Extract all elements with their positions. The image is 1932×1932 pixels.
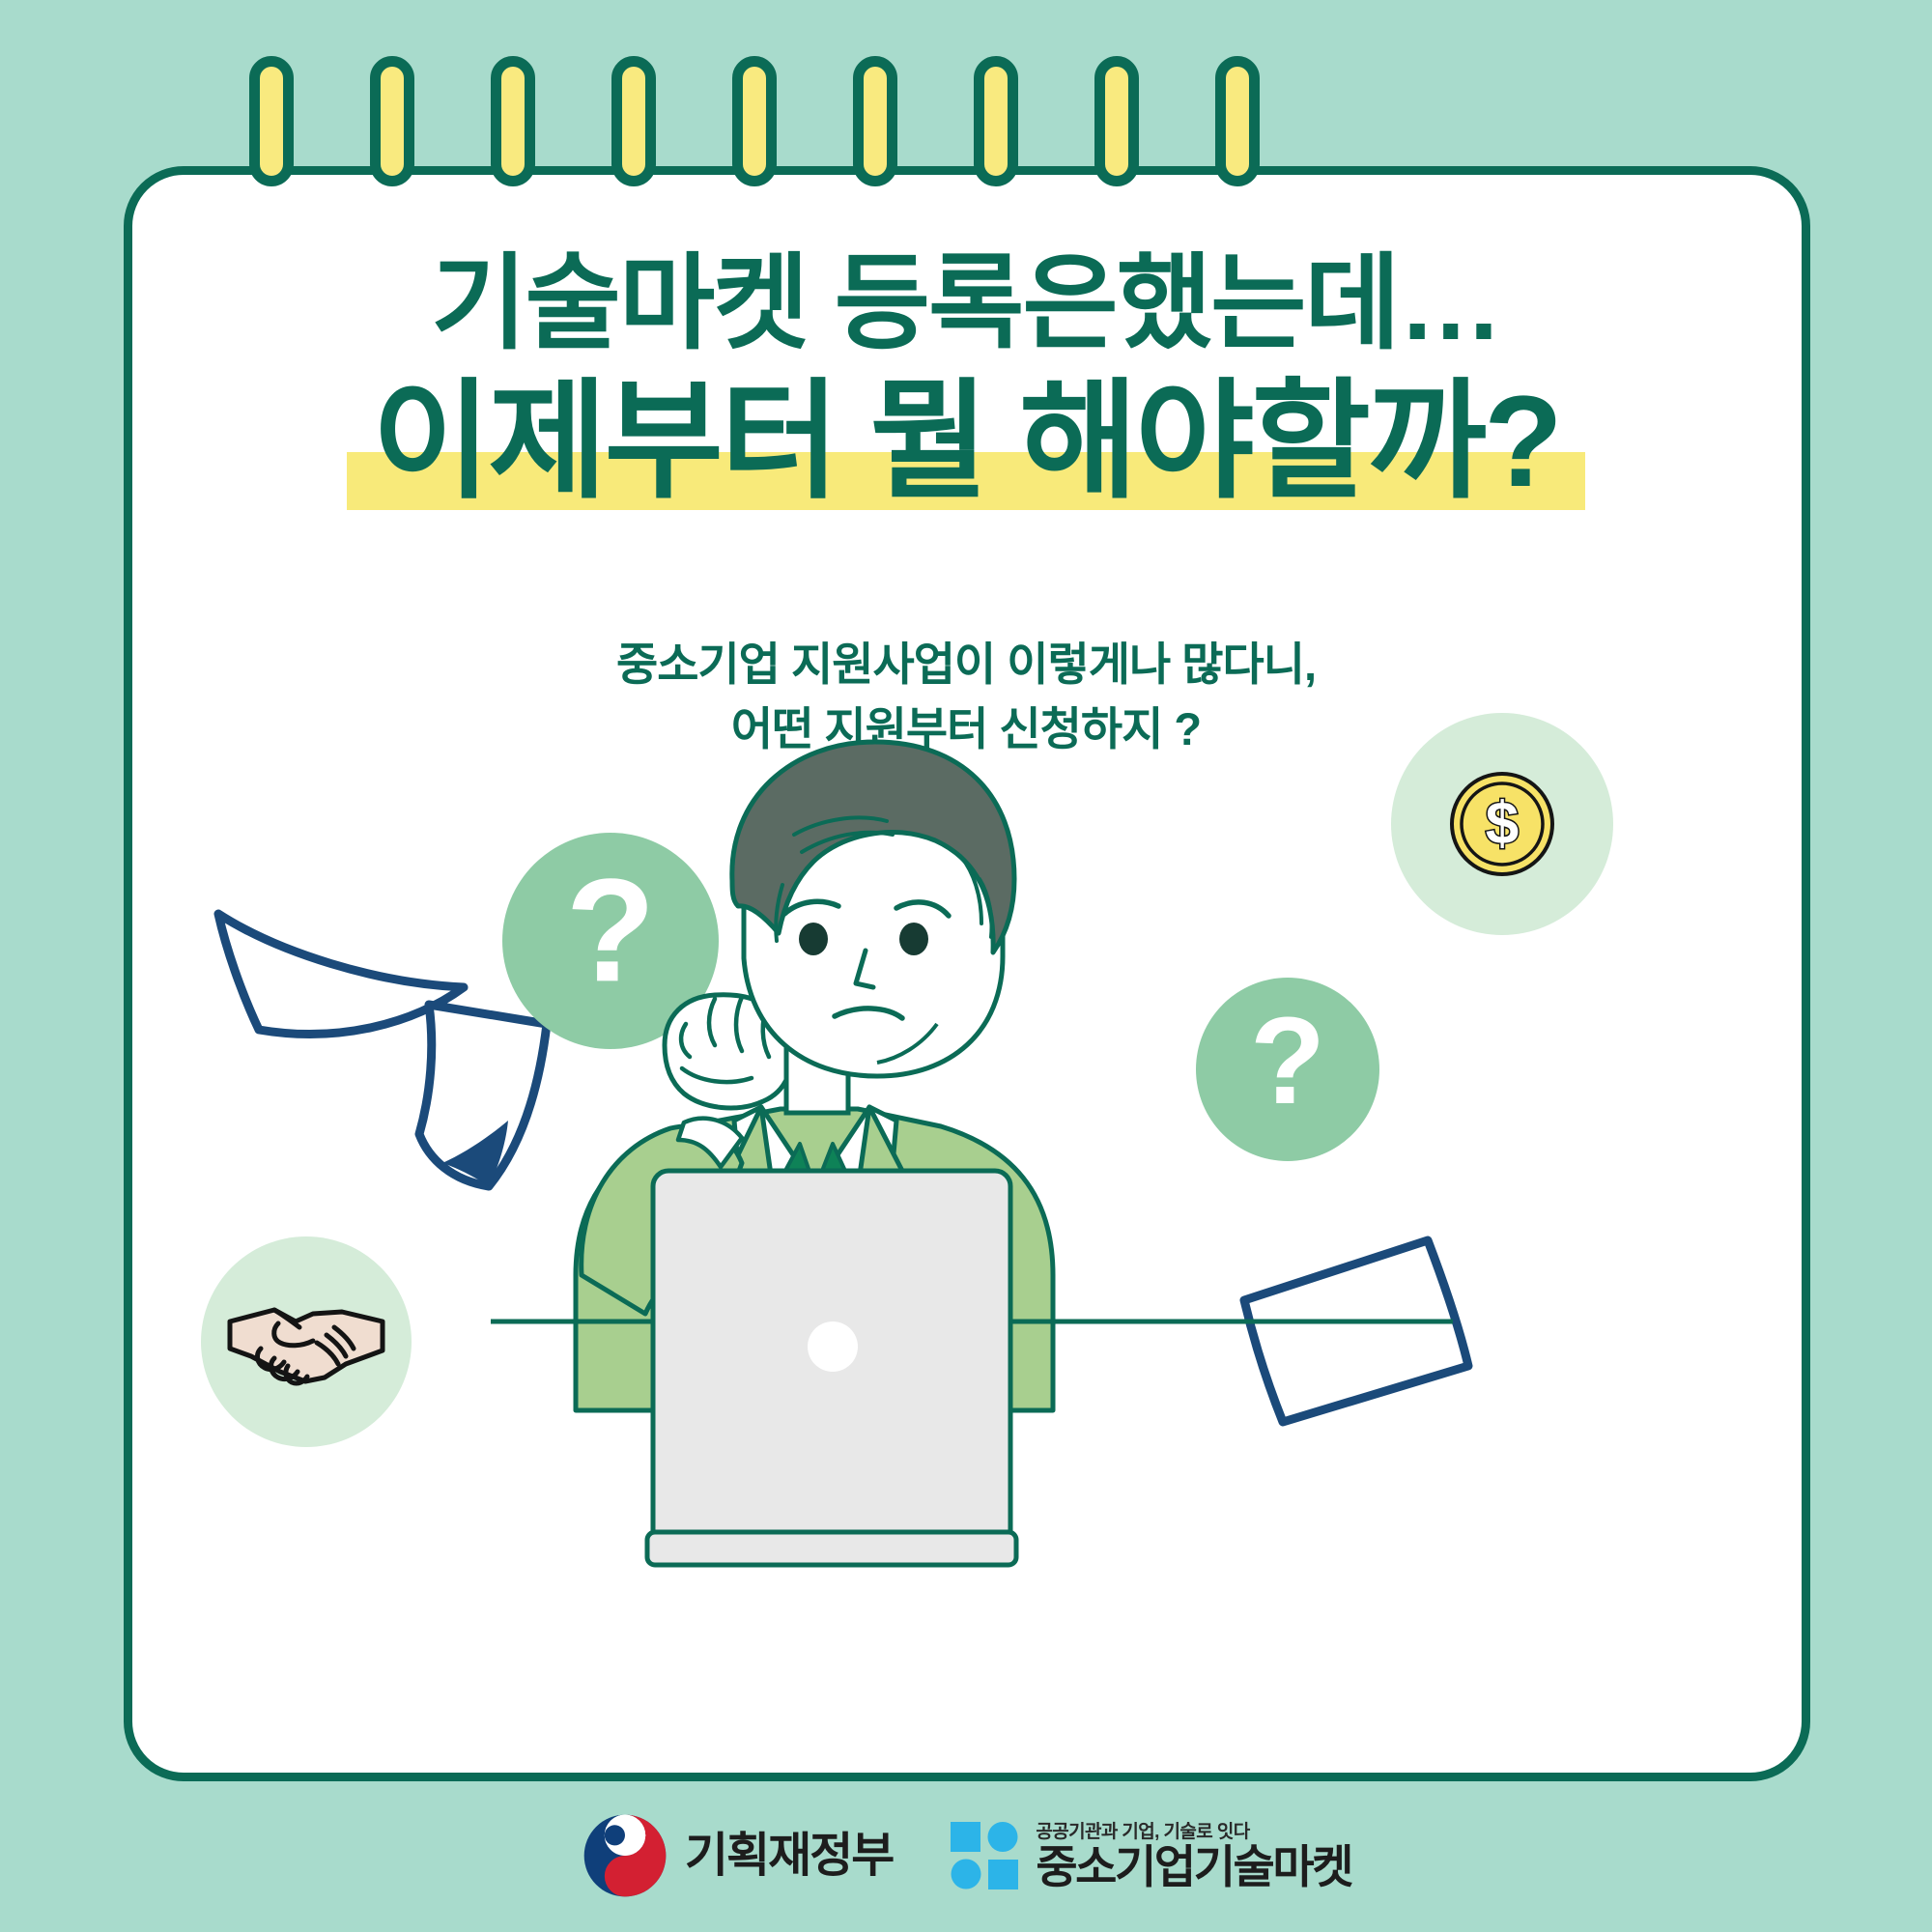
binding-ring: [370, 56, 414, 186]
right-eye: [899, 923, 928, 955]
techmarket-tagline: 공공기관과 기업, 기술로 잇다: [1036, 1823, 1351, 1841]
binding-ring: [1094, 56, 1139, 186]
ministry-name: 기획재정부: [685, 1833, 893, 1880]
binding-ring: [611, 56, 656, 186]
binding-ring: [1215, 56, 1260, 186]
binding-ring: [974, 56, 1018, 186]
spiral-binding: [0, 0, 1932, 251]
techmarket-name: 중소기업기술마켓: [1036, 1844, 1351, 1889]
laptop-logo-dot: [808, 1321, 858, 1372]
techmarket-texts: 공공기관과 기업, 기술로 잇다 중소기업기술마켓: [1036, 1823, 1351, 1889]
ministry-logo-group: 기획재정부: [581, 1811, 893, 1900]
left-eye: [799, 923, 828, 955]
techmarket-logo-group: 공공기관과 기업, 기술로 잇다 중소기업기술마켓: [949, 1820, 1351, 1891]
binding-ring: [491, 56, 535, 186]
illustration-stage: $ ?: [124, 734, 1810, 1604]
businessman-illustration: [124, 734, 1810, 1604]
head: [732, 742, 1014, 1076]
binding-ring: [732, 56, 777, 186]
taegeuk-emblem-icon: [581, 1811, 669, 1900]
title-line-2: 이제부터 뭘 해야할까?: [372, 370, 1560, 515]
title-block: 기술마켓 등록은했는데… 이제부터 뭘 해야할까?: [0, 241, 1932, 516]
techmarket-mark-icon: [949, 1820, 1020, 1891]
title-line-2-wrapper: 이제부터 뭘 해야할까?: [372, 370, 1560, 515]
title-line-1: 기술마켓 등록은했는데…: [0, 241, 1932, 364]
footer-logos: 기획재정부 공공기관과 기업, 기술로 잇다 중소기업기술마켓: [0, 1803, 1932, 1909]
binding-ring: [853, 56, 897, 186]
subtitle-line-1: 중소기업 지원사업이 이렇게나 많다니,: [0, 633, 1932, 697]
binding-ring: [249, 56, 294, 186]
laptop: [647, 1171, 1016, 1565]
